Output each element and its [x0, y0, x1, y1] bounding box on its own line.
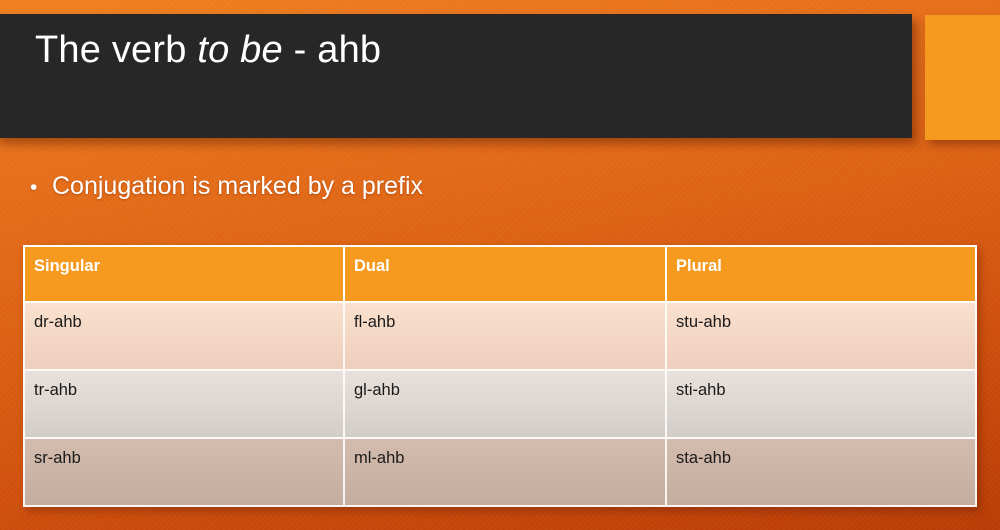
title-italic-phrase: to be	[197, 29, 283, 71]
cell-dual: ml-ahb	[345, 439, 667, 507]
title-bar: The verb to be - ahb	[0, 14, 912, 138]
title-suffix: - ahb	[283, 29, 381, 71]
conjugation-table: Singular Dual Plural dr-ahb fl-ahb stu-a…	[23, 245, 977, 507]
bullet-line: • Conjugation is marked by a prefix	[30, 172, 423, 201]
column-header-dual: Dual	[345, 245, 667, 303]
accent-block-decoration	[925, 15, 1000, 140]
cell-plural: sti-ahb	[667, 371, 977, 439]
slide-canvas: The verb to be - ahb • Conjugation is ma…	[0, 0, 1000, 530]
bullet-text: Conjugation is marked by a prefix	[52, 172, 423, 201]
cell-plural: sta-ahb	[667, 439, 977, 507]
column-header-plural: Plural	[667, 245, 977, 303]
table-body: dr-ahb fl-ahb stu-ahb tr-ahb gl-ahb sti-…	[23, 303, 977, 507]
title-prefix: The verb	[35, 29, 197, 71]
cell-dual: fl-ahb	[345, 303, 667, 371]
table-row: dr-ahb fl-ahb stu-ahb	[23, 303, 977, 371]
cell-dual: gl-ahb	[345, 371, 667, 439]
cell-singular: tr-ahb	[23, 371, 345, 439]
table-row: sr-ahb ml-ahb sta-ahb	[23, 439, 977, 507]
table-header: Singular Dual Plural	[23, 245, 977, 303]
bullet-dot-icon: •	[30, 176, 46, 200]
cell-singular: sr-ahb	[23, 439, 345, 507]
cell-singular: dr-ahb	[23, 303, 345, 371]
table-header-row: Singular Dual Plural	[23, 245, 977, 303]
column-header-singular: Singular	[23, 245, 345, 303]
page-title: The verb to be - ahb	[35, 30, 381, 72]
table-row: tr-ahb gl-ahb sti-ahb	[23, 371, 977, 439]
cell-plural: stu-ahb	[667, 303, 977, 371]
